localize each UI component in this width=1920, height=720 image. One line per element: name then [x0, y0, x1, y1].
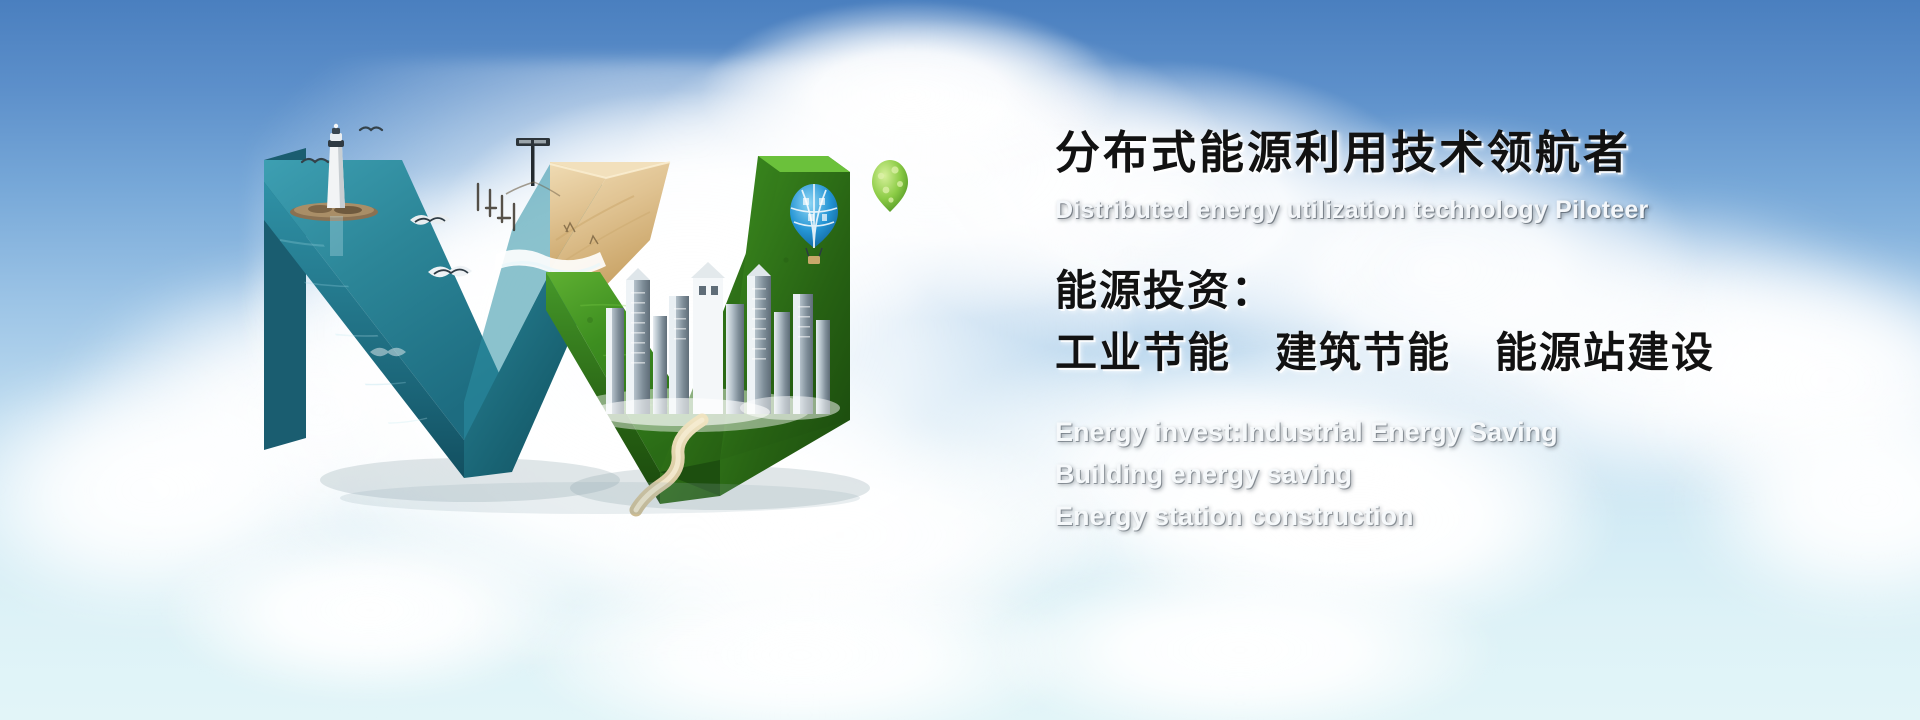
page-title: 分布式能源利用技术领航者 — [1055, 128, 1815, 178]
english-service-line: Building energy saving — [1055, 454, 1815, 496]
investment-items: 工业节能 建筑节能 能源站建设 — [1055, 328, 1815, 378]
subtitle-english: Distributed energy utilization technolog… — [1055, 196, 1815, 225]
hero-banner: 分布式能源利用技术领航者 Distributed energy utilizat… — [0, 0, 1920, 720]
marketing-copy: 分布式能源利用技术领航者 Distributed energy utilizat… — [1055, 128, 1815, 538]
english-services-block: Energy invest:Industrial Energy Saving B… — [1055, 412, 1815, 538]
w-letter-artwork — [250, 120, 950, 500]
english-service-line: Energy invest:Industrial Energy Saving — [1055, 412, 1815, 454]
investment-label: 能源投资： — [1055, 265, 1815, 318]
investment-block: 能源投资： 工业节能 建筑节能 能源站建设 — [1055, 265, 1815, 378]
green-globe-icon — [872, 160, 908, 212]
desert-posts — [478, 184, 514, 230]
english-service-line: Energy station construction — [1055, 496, 1815, 538]
